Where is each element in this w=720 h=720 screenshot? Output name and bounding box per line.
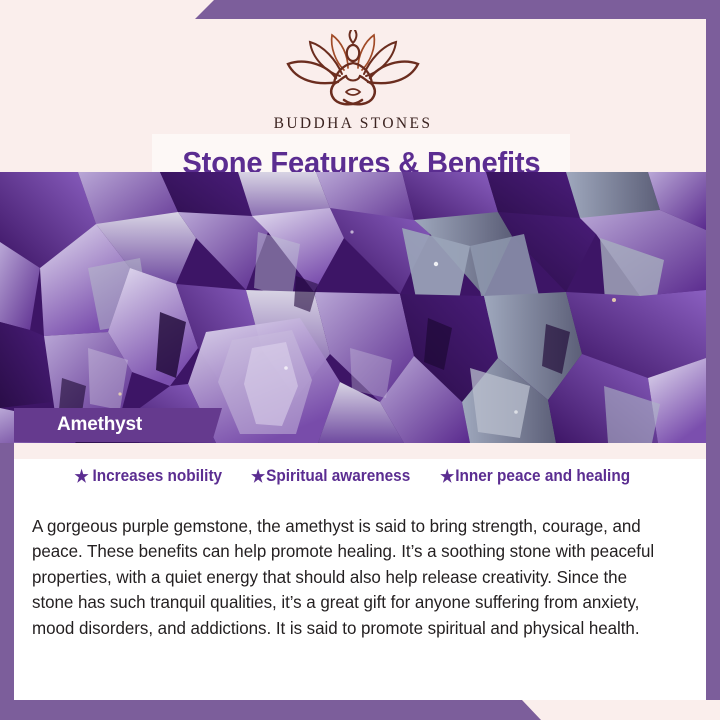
amethyst-hero-image bbox=[0, 172, 706, 443]
stone-name-badge: Amethyst bbox=[14, 408, 222, 442]
stone-name-label: Amethyst bbox=[57, 414, 142, 436]
lotus-meditation-figure-icon bbox=[278, 30, 428, 112]
stone-description: A gorgeous purple gemstone, the amethyst… bbox=[32, 514, 669, 642]
content-top-strip bbox=[14, 443, 706, 459]
benefit-item-1: ★ Increases nobility bbox=[74, 467, 222, 486]
amethyst-crystal-illustration bbox=[0, 172, 706, 443]
benefit-label-1: Increases nobility bbox=[92, 467, 222, 486]
benefit-label-2: Spiritual awareness bbox=[266, 467, 410, 486]
star-icon: ★ bbox=[74, 468, 88, 485]
brand-wordmark: BUDDHA STONES bbox=[0, 115, 706, 133]
content-panel: ★ Increases nobility ★ Spiritual awarene… bbox=[14, 443, 706, 700]
star-icon: ★ bbox=[251, 468, 265, 485]
left-accent-strip bbox=[0, 443, 14, 700]
header-section: BUDDHA STONES Stone Features & Benefits bbox=[0, 19, 706, 172]
brand-logo: BUDDHA STONES bbox=[0, 30, 706, 133]
benefits-list: ★ Increases nobility ★ Spiritual awarene… bbox=[14, 467, 692, 486]
right-accent-strip bbox=[706, 19, 720, 700]
infographic-card: BUDDHA STONES Stone Features & Benefits bbox=[0, 0, 720, 720]
benefit-item-3: ★ Inner peace and healing bbox=[440, 467, 630, 486]
star-icon: ★ bbox=[440, 468, 454, 485]
bottom-accent-band bbox=[0, 700, 720, 720]
top-accent-band bbox=[0, 0, 720, 19]
benefit-item-2: ★ Spiritual awareness bbox=[251, 467, 410, 486]
benefit-label-3: Inner peace and healing bbox=[455, 467, 630, 486]
